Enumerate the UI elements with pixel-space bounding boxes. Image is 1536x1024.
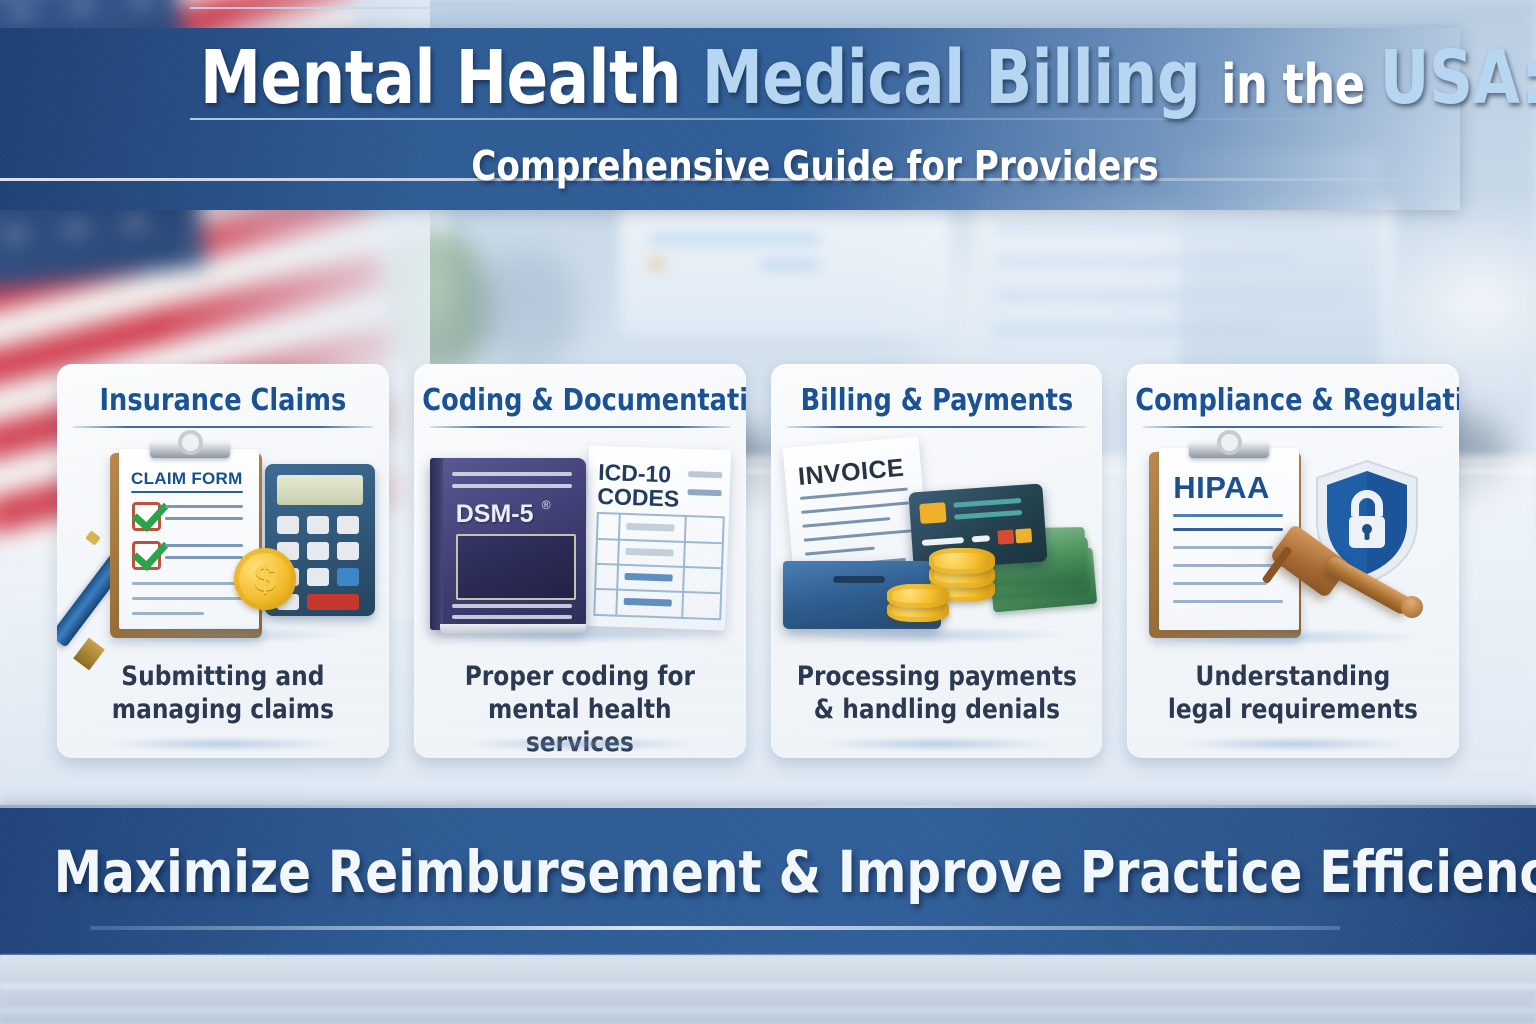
icd-sheet-label-line2: CODES — [597, 484, 680, 511]
card-compliance-regulations[interactable]: Compliance & Regulations HIPAA — [1127, 364, 1459, 758]
background-blur-blob — [470, 250, 580, 370]
card-title: Insurance Claims — [65, 383, 380, 418]
dollar-coin-icon: $ — [234, 548, 296, 610]
footer-rule-bottom — [90, 926, 1340, 930]
background-floor — [0, 955, 1536, 1024]
hipaa-document: HIPAA — [1159, 448, 1299, 630]
art-shadow — [791, 626, 1071, 644]
footer-rule-top — [0, 805, 1536, 808]
card-base-shadow — [460, 736, 699, 752]
icd-code-sheet-icon: ICD-10 CODES — [583, 446, 731, 631]
card-divider — [787, 426, 1087, 428]
claim-form-label: CLAIM FORM — [131, 469, 243, 489]
card-title: Coding & Documentation — [422, 383, 737, 418]
card-base-shadow — [1174, 736, 1413, 752]
card-art-billing-payments: INVOICE — [771, 436, 1103, 648]
card-divider — [73, 426, 373, 428]
card-insurance-claims[interactable]: Insurance Claims — [57, 364, 389, 758]
card-divider — [1143, 426, 1443, 428]
card-art-compliance-regulations: HIPAA — [1127, 436, 1459, 648]
card-description: Processing payments & handling denials — [787, 660, 1086, 726]
card-coding-documentation[interactable]: Coding & Documentation ICD-10 CODES — [414, 364, 746, 758]
coin-dollar-symbol: $ — [234, 548, 296, 610]
page-title: Mental Health Medical Billing in the USA… — [200, 38, 1332, 125]
card-description: Submitting and managing claims — [73, 660, 372, 726]
page-subtitle: Comprehensive Guide for Providers — [243, 142, 1387, 190]
floor-sheen — [0, 1008, 1536, 1013]
art-shadow — [1145, 628, 1425, 646]
card-divider — [430, 426, 730, 428]
background-wall-poster — [620, 205, 950, 335]
header-rule-top — [190, 7, 1420, 9]
card-base-shadow — [103, 736, 342, 752]
dsm-book-icon: DSM-5 ® — [430, 458, 586, 630]
pen-band-icon — [85, 530, 101, 545]
card-art-coding-documentation: ICD-10 CODES — [414, 436, 746, 648]
art-shadow — [97, 626, 347, 644]
footer-tagline: Maximize Reimbursement & Improve Practic… — [54, 838, 1482, 906]
card-description: Understanding legal requirements — [1143, 660, 1442, 726]
title-segment-mental-health: Mental Health — [200, 35, 702, 121]
title-segment-medical-billing: Medical Billing — [702, 35, 1221, 121]
card-description-line1: Submitting and — [73, 660, 372, 693]
floor-sheen — [0, 984, 1536, 989]
dsm-book-label: DSM-5 — [456, 500, 534, 529]
card-description-line1: Proper coding for — [430, 660, 729, 693]
card-base-shadow — [817, 736, 1056, 752]
invoice-label: INVOICE — [796, 454, 904, 492]
title-segment-usa: USA: — [1380, 35, 1536, 121]
card-description-line1: Understanding — [1143, 660, 1442, 693]
card-description-line1: Processing payments — [787, 660, 1086, 693]
footer-band: Maximize Reimbursement & Improve Practic… — [0, 805, 1536, 955]
card-description-line2: managing claims — [73, 693, 372, 726]
card-title: Compliance & Regulations — [1136, 383, 1451, 418]
dsm-registered-mark: ® — [542, 498, 551, 512]
card-billing-payments[interactable]: Billing & Payments INVOICE — [771, 364, 1103, 758]
card-title: Billing & Payments — [779, 383, 1094, 418]
feature-card-row: Insurance Claims — [57, 364, 1459, 758]
card-description-line2: legal requirements — [1143, 693, 1442, 726]
infographic-canvas: Mental Health Medical Billing in the USA… — [0, 0, 1536, 1024]
card-description-line2: & handling denials — [787, 693, 1086, 726]
clipboard-ring-icon — [178, 430, 203, 455]
art-shadow — [432, 626, 712, 644]
title-segment-in-the: in the — [1221, 53, 1380, 116]
card-art-insurance-claims: CLAIM FORM $ — [57, 436, 389, 648]
hipaa-label: HIPAA — [1173, 470, 1270, 506]
